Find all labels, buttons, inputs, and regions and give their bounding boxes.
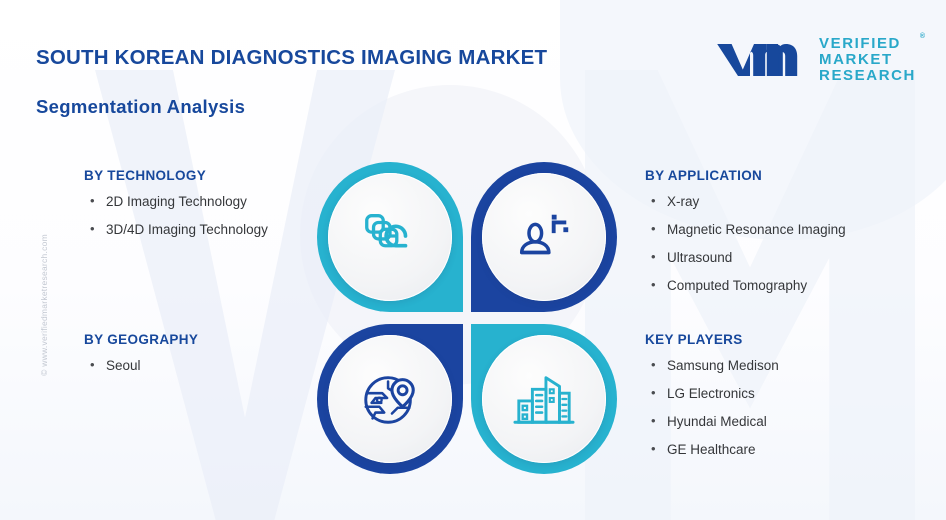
globe-pin-icon bbox=[359, 368, 421, 430]
logo-line-market: MARKET bbox=[819, 52, 916, 68]
section-heading-key-players: KEY PLAYERS bbox=[645, 332, 937, 347]
brand-logo: VERIFIED® MARKET RESEARCH bbox=[714, 36, 916, 84]
registered-mark-icon: ® bbox=[920, 33, 925, 40]
section-heading-application: BY APPLICATION bbox=[645, 168, 937, 183]
quadrant-geography[interactable] bbox=[317, 324, 463, 474]
quadrant-graphic bbox=[317, 162, 617, 474]
page-subtitle: Segmentation Analysis bbox=[36, 96, 245, 118]
list-key-players: Samsung Medison LG Electronics Hyundai M… bbox=[645, 358, 937, 459]
logo-line-research: RESEARCH bbox=[819, 68, 916, 84]
quadrant-inner-disc bbox=[328, 173, 452, 301]
list-item: Samsung Medison bbox=[645, 358, 937, 375]
quadrant-inner-disc bbox=[482, 173, 606, 301]
section-heading-technology: BY TECHNOLOGY bbox=[84, 168, 336, 183]
patient-scan-icon bbox=[513, 206, 575, 268]
list-item: Seoul bbox=[84, 358, 336, 375]
list-item: GE Healthcare bbox=[645, 442, 937, 459]
section-technology: BY TECHNOLOGY 2D Imaging Technology 3D/4… bbox=[84, 168, 336, 250]
quadrant-inner-disc bbox=[482, 335, 606, 463]
section-geography: BY GEOGRAPHY Seoul bbox=[84, 332, 336, 386]
list-item: Hyundai Medical bbox=[645, 414, 937, 431]
section-heading-geography: BY GEOGRAPHY bbox=[84, 332, 336, 347]
section-key-players: KEY PLAYERS Samsung Medison LG Electroni… bbox=[645, 332, 937, 470]
list-item: 3D/4D Imaging Technology bbox=[84, 222, 336, 239]
list-item: Magnetic Resonance Imaging bbox=[645, 222, 937, 239]
list-item: Computed Tomography bbox=[645, 278, 937, 295]
list-item: Ultrasound bbox=[645, 250, 937, 267]
quadrant-application[interactable] bbox=[471, 162, 617, 312]
stacked-layers-icon bbox=[359, 206, 421, 268]
list-technology: 2D Imaging Technology 3D/4D Imaging Tech… bbox=[84, 194, 336, 239]
quadrant-inner-disc bbox=[328, 335, 452, 463]
list-item: 2D Imaging Technology bbox=[84, 194, 336, 211]
vmr-logo-mark-icon bbox=[714, 37, 810, 83]
logo-wordmark: VERIFIED® MARKET RESEARCH bbox=[819, 36, 916, 84]
section-application: BY APPLICATION X-ray Magnetic Resonance … bbox=[645, 168, 937, 306]
list-item: LG Electronics bbox=[645, 386, 937, 403]
quadrant-key-players[interactable] bbox=[471, 324, 617, 474]
page-title: SOUTH KOREAN DIAGNOSTICS IMAGING MARKET bbox=[36, 46, 547, 70]
list-geography: Seoul bbox=[84, 358, 336, 375]
list-application: X-ray Magnetic Resonance Imaging Ultraso… bbox=[645, 194, 937, 295]
quadrant-technology[interactable] bbox=[317, 162, 463, 312]
copyright-watermark: © www.verifiedmarketresearch.com bbox=[39, 195, 49, 415]
buildings-icon bbox=[513, 368, 575, 430]
logo-line-verified: VERIFIED® bbox=[819, 36, 916, 52]
list-item: X-ray bbox=[645, 194, 937, 211]
